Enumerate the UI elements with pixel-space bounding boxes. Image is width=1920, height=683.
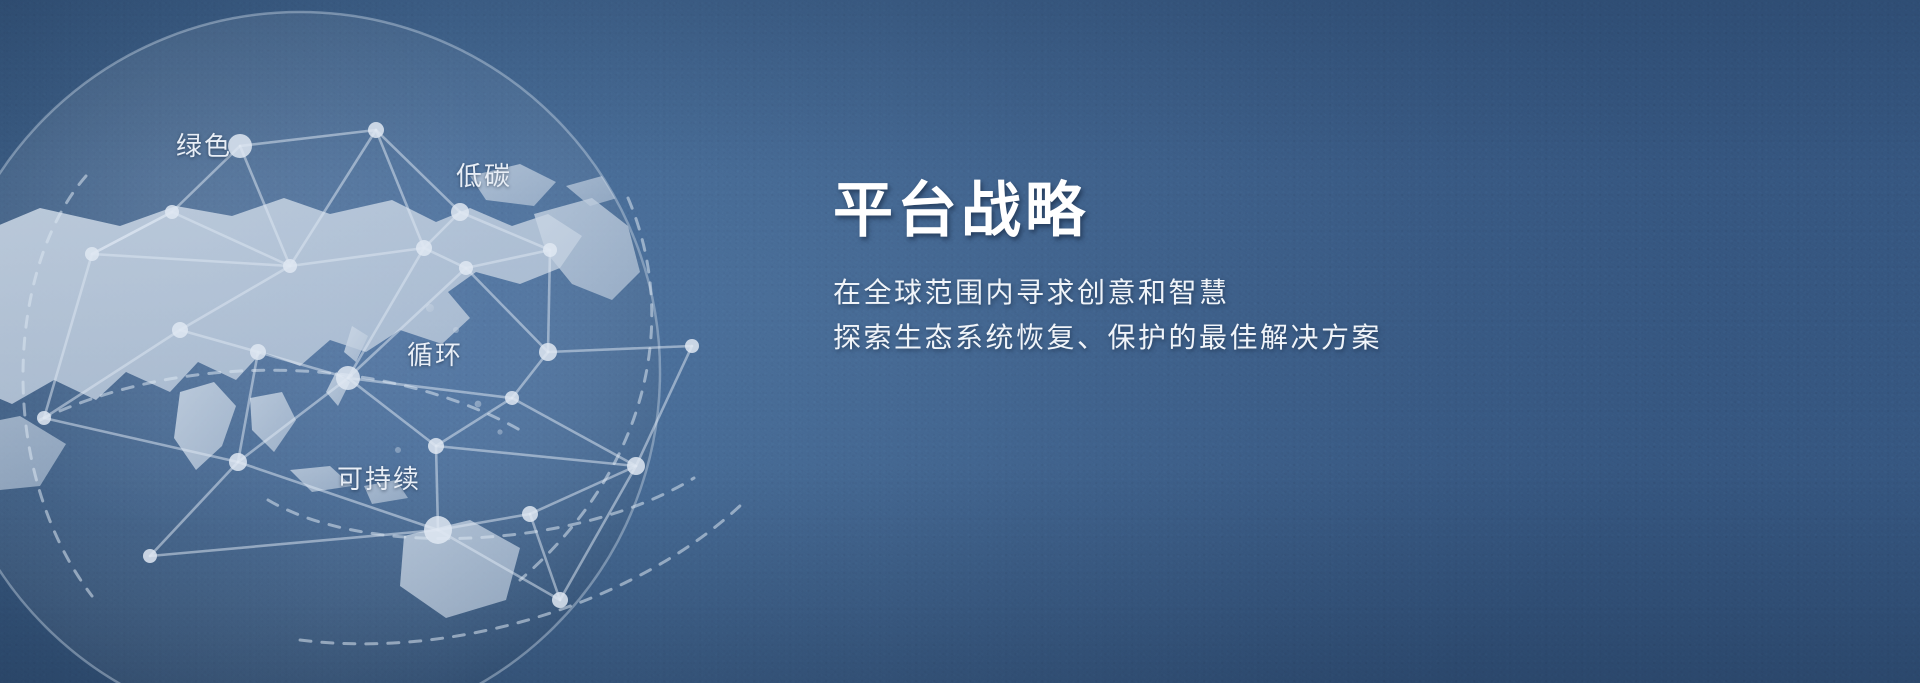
graph-label-circular: 循环 (407, 335, 463, 372)
page-title: 平台战略 (833, 178, 1573, 244)
graph-label-low-carbon: 低碳 (456, 156, 512, 193)
hero-banner: 绿色 低碳 循环 可持续 平台战略 在全球范围内寻求创意和智慧 探索生态系统恢复… (0, 0, 1920, 683)
hero-subtitle-line-2: 探索生态系统恢复、保护的最佳解决方案 (833, 315, 1573, 360)
graph-label-sustainable: 可持续 (337, 459, 421, 496)
hero-text-block: 平台战略 在全球范围内寻求创意和智慧 探索生态系统恢复、保护的最佳解决方案 (833, 178, 1573, 361)
hero-subtitle-line-1: 在全球范围内寻求创意和智慧 (833, 270, 1573, 315)
graph-label-green: 绿色 (176, 126, 232, 163)
